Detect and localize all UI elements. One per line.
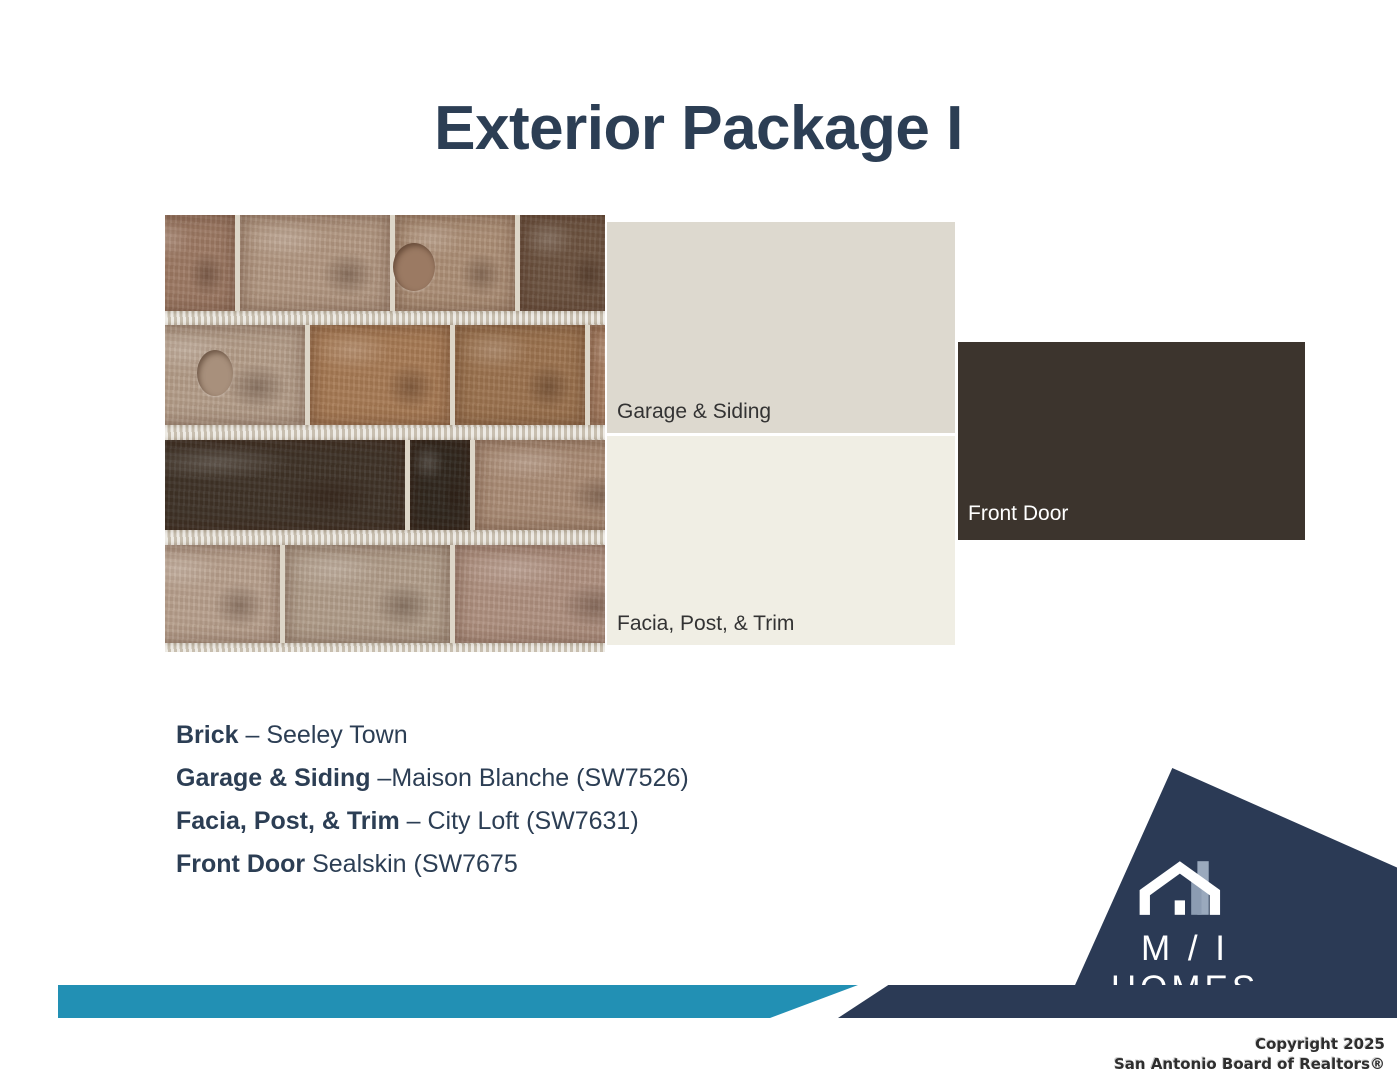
color-swatch-garage-siding: Garage & Siding — [607, 222, 955, 433]
legend-key: Garage & Siding — [176, 764, 370, 792]
teal-accent-bar — [58, 985, 858, 1018]
copyright-line-2: San Antonio Board of Realtors® — [1114, 1054, 1385, 1074]
legend-row-facia-post-trim: Facia, Post, & Trim – City Loft (SW7631) — [176, 800, 689, 843]
brick-pock-mark — [393, 243, 435, 291]
swatch-label-garage-siding: Garage & Siding — [617, 399, 771, 424]
brick-sample-photo — [165, 215, 605, 652]
color-swatch-front-door: Front Door — [958, 342, 1305, 540]
navy-accent-bar — [838, 985, 1397, 1018]
copyright-line-1: Copyright 2025 — [1114, 1034, 1385, 1054]
legend-row-brick: Brick – Seeley Town — [176, 714, 689, 757]
legend-row-garage-siding: Garage & Siding –Maison Blanche (SW7526) — [176, 757, 689, 800]
legend-key: Facia, Post, & Trim — [176, 807, 400, 835]
page-title: Exterior Package I — [0, 96, 1397, 161]
color-swatch-facia-post-trim: Facia, Post, & Trim — [607, 436, 955, 645]
legend-key: Front Door — [176, 850, 305, 878]
brick-pock-mark — [197, 350, 233, 396]
legend-row-front-door: Front Door Sealskin (SW7675 — [176, 843, 689, 886]
legend-value: –Maison Blanche (SW7526) — [370, 764, 688, 792]
swatch-label-facia-post-trim: Facia, Post, & Trim — [617, 611, 794, 636]
house-icon — [1060, 855, 1310, 921]
material-legend: Brick – Seeley Town Garage & Siding –Mai… — [176, 714, 689, 886]
swatch-label-front-door: Front Door — [968, 501, 1068, 526]
legend-value: – City Loft (SW7631) — [400, 807, 639, 835]
legend-value: – Seeley Town — [239, 721, 408, 749]
legend-value: Sealskin (SW7675 — [305, 850, 518, 878]
legend-key: Brick — [176, 721, 239, 749]
copyright-notice: Copyright 2025 San Antonio Board of Real… — [1114, 1034, 1385, 1075]
